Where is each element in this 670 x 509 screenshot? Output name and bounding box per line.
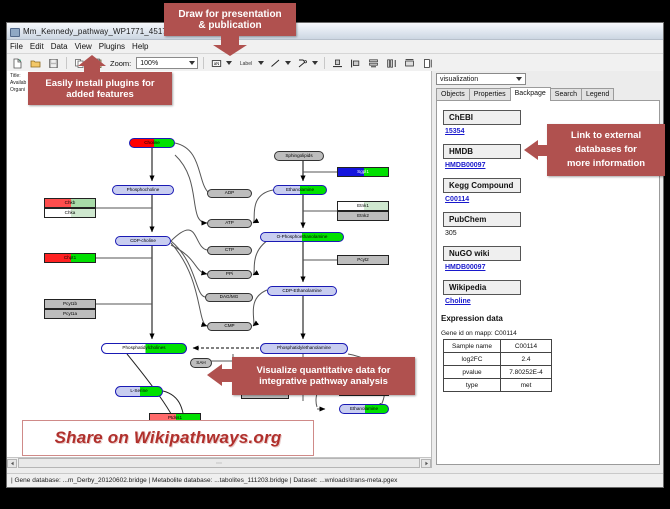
node-label: Ethanolamine: [350, 407, 378, 412]
node-label: L-Serine: [130, 389, 147, 394]
pathway-canvas[interactable]: Title: Availab Organi: [7, 71, 432, 468]
row-value: met: [501, 379, 552, 392]
chevron-down-icon[interactable]: [258, 61, 264, 65]
toolbar-separator: [203, 57, 204, 69]
zoom-label: Zoom:: [110, 59, 131, 68]
gene-node[interactable]: Sgpl1: [337, 167, 389, 177]
chevron-down-icon: [516, 77, 522, 81]
section-header: Kegg Compound: [443, 178, 521, 193]
toolbar-separator: [324, 57, 325, 69]
callout-draw-arrow-head: [213, 45, 247, 56]
node-label: CMP: [224, 324, 234, 329]
gene-node[interactable]: Etnk1: [337, 201, 389, 211]
row-key: pvalue: [444, 366, 501, 379]
gene-node[interactable]: Pcyt2: [337, 255, 389, 265]
gene-id-on-mapp: Gene id on mapp: C00114: [441, 330, 659, 337]
callout-link-line2: databases for: [575, 143, 637, 157]
menu-item-help[interactable]: Help: [132, 42, 148, 51]
node-label: Pcyt2: [357, 258, 369, 263]
backpage-section-kegg: Kegg Compound C00114: [443, 175, 659, 203]
node-label: Pcyt1a: [63, 312, 77, 317]
chevron-down-icon[interactable]: [312, 61, 318, 65]
callout-visualize-arrow-head: [207, 364, 222, 386]
tab-backpage[interactable]: Backpage: [510, 87, 551, 101]
row-key: type: [444, 379, 501, 392]
metabolite-node[interactable]: Phosphatidylcholines: [101, 343, 187, 354]
expression-data-title: Expression data: [441, 314, 659, 323]
callout-draw: Draw for presentation & publication: [164, 3, 296, 36]
menu-item-edit[interactable]: Edit: [30, 42, 44, 51]
menu-bar: File Edit Data View Plugins Help: [7, 40, 663, 54]
callout-plugins-line2: added features: [66, 89, 134, 100]
node-label: Ethanolamine: [286, 188, 314, 193]
section-header: ChEBI: [443, 110, 521, 125]
menu-item-file[interactable]: File: [10, 42, 23, 51]
callout-link: Link to external databases for more info…: [547, 124, 665, 176]
zoom-value: 100%: [140, 60, 158, 67]
size-common-width-icon[interactable]: [402, 56, 417, 71]
pubchem-value: 305: [445, 230, 659, 237]
callout-visualize: Visualize quantitative data for integrat…: [232, 357, 415, 395]
line-icon[interactable]: [268, 56, 283, 71]
visualization-select[interactable]: visualization: [436, 73, 526, 85]
cofactor-node[interactable]: ADP: [207, 189, 252, 198]
node-label: ATP: [225, 221, 234, 226]
open-folder-icon[interactable]: [28, 56, 43, 71]
node-label: CDP-Ethanolamine: [282, 289, 321, 294]
canvas-hscrollbar[interactable]: ⋯: [7, 457, 431, 468]
table-row: pvalue 7.80252E-4: [444, 366, 552, 379]
node-label: Sphingolipids: [285, 154, 312, 159]
menu-item-data[interactable]: Data: [51, 42, 68, 51]
callout-link-arrow-stem: [538, 145, 548, 156]
node-label: CDP-choline: [130, 239, 156, 244]
node-label: PPi: [226, 272, 233, 277]
callout-plugins: Easily install plugins for added feature…: [28, 72, 172, 105]
datanode-icon[interactable]: aN: [209, 56, 224, 71]
callout-plugins-arrow-stem: [84, 66, 100, 73]
external-link-kegg[interactable]: C00114: [445, 196, 659, 203]
metabolite-node[interactable]: Phosphatidylethanolamine: [260, 343, 348, 354]
table-row: log2FC 2.4: [444, 353, 552, 366]
distribute-vertical-icon[interactable]: [366, 56, 381, 71]
save-icon[interactable]: [46, 56, 61, 71]
callout-plugins-arrow-head: [78, 55, 106, 66]
node-label: Chka: [65, 211, 76, 216]
distribute-horizontal-icon[interactable]: [384, 56, 399, 71]
screenshot-root: Mm_Kennedy_pathway_WP1771_45176.gpml Fil…: [0, 0, 670, 509]
expression-table: Sample name C00114 log2FC 2.4 pvalue 7.8…: [443, 339, 552, 392]
callout-draw-line2: & publication: [198, 20, 261, 31]
gene-node[interactable]: Pcyt1a: [44, 309, 96, 319]
scroll-right-icon[interactable]: [421, 459, 431, 468]
node-label: Phosphocholine: [127, 188, 160, 193]
menu-item-plugins[interactable]: Plugins: [99, 42, 125, 51]
node-label: Sgpl1: [357, 170, 369, 175]
node-label: SAH: [196, 361, 205, 366]
row-key: Sample name: [444, 340, 501, 353]
node-label: Choline: [144, 141, 160, 146]
node-label: Chpt1: [64, 256, 76, 261]
metabolite-node[interactable]: Ethanolamine: [273, 185, 327, 195]
metabolite-node[interactable]: Phosphocholine: [112, 185, 174, 195]
new-icon[interactable]: [10, 56, 25, 71]
cofactor-node[interactable]: DAG/MG: [205, 293, 253, 302]
cofactor-node[interactable]: PPi: [207, 270, 252, 279]
row-key: log2FC: [444, 353, 501, 366]
size-common-height-icon[interactable]: [420, 56, 435, 71]
svg-text:aN: aN: [214, 61, 220, 66]
gene-node[interactable]: Chka: [44, 208, 96, 218]
external-link-nugo[interactable]: HMDB00097: [445, 264, 659, 271]
visualization-select-value: visualization: [440, 76, 478, 83]
row-value: 7.80252E-4: [501, 366, 552, 379]
metabolite-node[interactable]: O-Phosphoethanolamine: [260, 232, 344, 242]
node-label: Etnk2: [357, 214, 369, 219]
status-bar: | Gene database: ...m_Derby_20120602.bri…: [7, 473, 663, 487]
pathvisio-icon: [10, 27, 19, 36]
scroll-thumb[interactable]: ⋯: [18, 458, 420, 468]
label-icon[interactable]: Label: [236, 56, 256, 71]
metabolite-node[interactable]: Sphingolipids: [274, 151, 324, 161]
callout-draw-line1: Draw for presentation: [178, 9, 281, 20]
gene-node[interactable]: Etnk2: [337, 211, 389, 221]
backpage-section-nugo: NuGO wiki HMDB00097: [443, 243, 659, 271]
callout-share-label: Share on Wikipathways.org: [55, 428, 282, 448]
node-label: ADP: [225, 191, 234, 196]
gene-node[interactable]: Chpt1: [44, 253, 96, 263]
chevron-down-icon[interactable]: [285, 61, 291, 65]
menu-item-view[interactable]: View: [75, 42, 92, 51]
callout-share: Share on Wikipathways.org: [22, 420, 314, 456]
table-row: Sample name C00114: [444, 340, 552, 353]
node-label: Phosphatidylcholines: [122, 346, 165, 351]
callout-visualize-line2: integrative pathway analysis: [259, 376, 388, 387]
align-left-icon[interactable]: [348, 56, 363, 71]
backpage-section-wikipedia: Wikipedia Choline: [443, 277, 659, 305]
backpage-section-pubchem: PubChem 305: [443, 209, 659, 237]
external-link-wikipedia[interactable]: Choline: [445, 298, 659, 305]
scroll-left-icon[interactable]: [7, 459, 17, 468]
section-header: PubChem: [443, 212, 521, 227]
metabolite-node[interactable]: L-Serine: [115, 386, 163, 397]
chevron-down-icon[interactable]: [226, 61, 232, 65]
metabolite-node[interactable]: CDP-choline: [115, 236, 171, 246]
callout-link-line1: Link to external: [571, 129, 641, 143]
zoom-select[interactable]: 100%: [136, 57, 198, 69]
callout-link-line3: more information: [567, 157, 645, 171]
node-label: Etnk1: [357, 204, 369, 209]
node-label: Pcyt1b: [63, 302, 77, 307]
callout-visualize-line1: Visualize quantitative data for: [257, 365, 391, 376]
node-label: CTP: [225, 248, 234, 253]
metabolite-node[interactable]: Ethanolamine: [339, 404, 389, 414]
cofactor-node[interactable]: CMP: [207, 322, 252, 331]
table-row: type met: [444, 379, 552, 392]
metabolite-node[interactable]: Choline: [129, 138, 175, 148]
section-header: NuGO wiki: [443, 246, 521, 261]
section-header: HMDB: [443, 144, 521, 159]
row-value: C00114: [501, 340, 552, 353]
node-label: Phosphatidylethanolamine: [277, 346, 331, 351]
toolbar-separator: [66, 57, 67, 69]
title-bar: Mm_Kennedy_pathway_WP1771_45176.gpml: [7, 23, 663, 40]
chevron-down-icon: [189, 61, 195, 65]
cofactor-node[interactable]: CTP: [207, 246, 252, 255]
metabolite-node[interactable]: CDP-Ethanolamine: [267, 286, 337, 296]
node-label: O-Phosphoethanolamine: [277, 235, 328, 240]
node-label: Chkb: [65, 201, 76, 206]
callout-visualize-arrow-stem: [222, 369, 233, 382]
gene-node[interactable]: Pcyt1b: [44, 299, 96, 309]
svg-text:Label: Label: [240, 61, 252, 67]
callout-link-arrow-head: [524, 140, 538, 160]
status-text: | Gene database: ...m_Derby_20120602.bri…: [11, 477, 397, 484]
callout-plugins-line1: Easily install plugins for: [45, 78, 154, 89]
node-label: DAG/MG: [220, 295, 239, 300]
section-header: Wikipedia: [443, 280, 521, 295]
cofactor-node[interactable]: ATP: [207, 219, 252, 228]
row-value: 2.4: [501, 353, 552, 366]
gene-node[interactable]: Chkb: [44, 198, 96, 208]
align-top-icon[interactable]: [330, 56, 345, 71]
callout-draw-arrow-stem: [221, 36, 239, 45]
anchor-icon[interactable]: [295, 56, 310, 71]
